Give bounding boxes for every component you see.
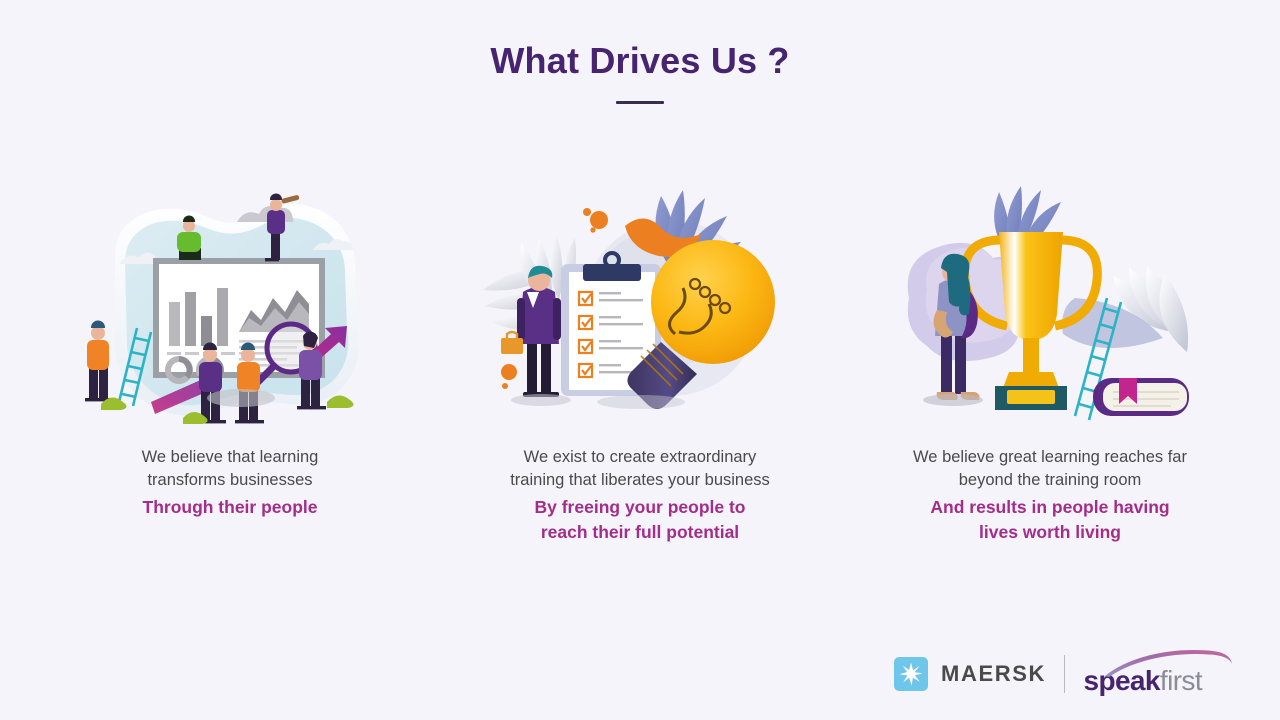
orange-dot [501,364,517,380]
orange-dot [590,227,595,232]
trophy-cup [999,232,1063,340]
speakfirst-logo: speakfirst [1083,653,1202,695]
caption-lead: We exist to create extraordinary trainin… [475,446,805,492]
chart-bar [185,292,196,346]
chart-bar [201,316,212,346]
caption-block: We exist to create extraordinary trainin… [475,446,805,545]
briefcase-handle [507,332,517,338]
logo-lockup: MAERSK speakfirst [894,646,1202,702]
caption-emphasis-line: By freeing your people to [475,495,805,520]
chart-bar [169,302,180,346]
caption-emphasis: Through their people [65,495,395,520]
chart-axis-tick [221,352,235,355]
column-learning-transforms: We believe that learning transforms busi… [25,180,435,520]
caption-lead-line: We believe that learning [65,446,395,469]
person-orange-left [85,320,113,401]
slide-canvas: What Drives Us ? [0,0,1280,720]
data-analysis-illustration [55,180,405,430]
trophy-plaque [1007,390,1055,404]
title-underline-rule [616,101,664,104]
briefcase-icon [501,338,523,354]
book-icon [1093,378,1189,416]
ground-shadow [207,389,275,407]
orange-dot [583,208,591,216]
ground-shadow [923,394,983,406]
caption-lead-line: beyond the training room [885,469,1215,492]
column-lives-worth-living: We believe great learning reaches far be… [845,180,1255,545]
seven-pointed-star-icon [898,661,924,687]
content-columns: We believe that learning transforms busi… [0,180,1280,545]
chart-bar [217,288,228,346]
title-block: What Drives Us ? [0,40,1280,104]
caption-lead-line: transforms businesses [65,469,395,492]
caption-emphasis: And results in people having lives worth… [885,495,1215,545]
caption-lead-line: training that liberates your business [475,469,805,492]
caption-emphasis-line: lives worth living [885,520,1215,545]
trophy-achievement-illustration [875,180,1225,430]
bush-shape [327,395,354,408]
ground-shadow [511,394,571,406]
swoosh-arc-icon [1101,647,1233,677]
ground-shadow [597,395,685,409]
caption-emphasis-line: Through their people [65,495,395,520]
trophy-foot [1003,372,1059,388]
idea-lightbulb-illustration [465,180,815,430]
caption-lead: We believe that learning transforms busi… [65,446,395,492]
maersk-star-icon [894,657,928,691]
caption-block: We believe great learning reaches far be… [885,446,1215,545]
caption-block: We believe that learning transforms busi… [65,446,395,520]
trophy-stem [1023,338,1039,372]
caption-emphasis-line: reach their full potential [475,520,805,545]
column-extraordinary-training: We exist to create extraordinary trainin… [435,180,845,545]
orange-dot [590,211,608,229]
maersk-wordmark: MAERSK [941,661,1046,687]
caption-lead-line: We exist to create extraordinary [475,446,805,469]
chart-axis-tick [167,352,181,355]
caption-emphasis: By freeing your people to reach their fu… [475,495,805,545]
orange-dot [502,383,508,389]
caption-lead: We believe great learning reaches far be… [885,446,1215,492]
caption-emphasis-line: And results in people having [885,495,1215,520]
logo-divider [1064,655,1066,693]
chart-axis-tick [185,352,199,355]
page-title: What Drives Us ? [0,40,1280,81]
caption-lead-line: We believe great learning reaches far [885,446,1215,469]
